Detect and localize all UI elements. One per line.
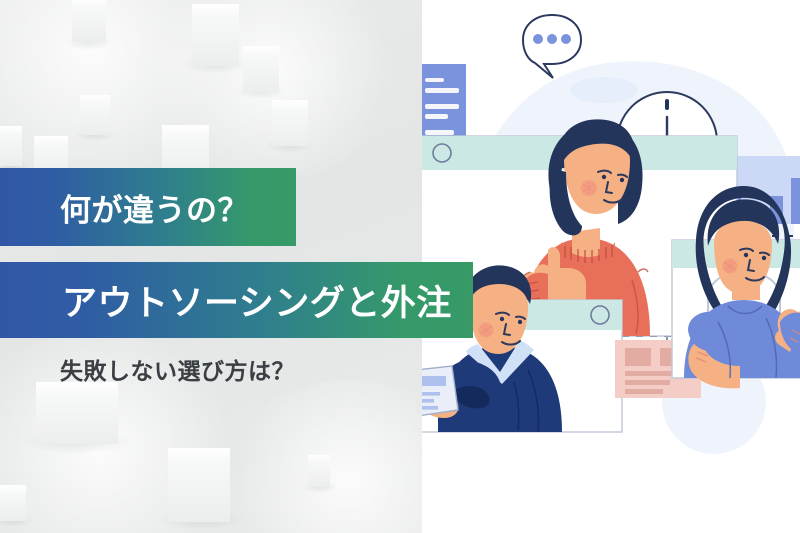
decorative-cube (168, 448, 230, 522)
headline-band-secondary: アウトソーシングと外注 (0, 262, 473, 338)
illustration-panel (422, 0, 800, 533)
decorative-cube (192, 4, 239, 66)
decorative-cube (80, 95, 110, 135)
subtitle-text: 失敗しない選び方は？ (60, 352, 295, 386)
headline-secondary-text: アウトソーシングと外注 (62, 275, 452, 326)
background-blob (570, 77, 638, 103)
held-document (422, 366, 458, 418)
decorative-cube (36, 382, 118, 444)
headline-band-primary: 何が違うの？ (0, 168, 296, 246)
remote-team-illustration (422, 0, 800, 533)
decorative-cube (72, 0, 106, 42)
decorative-cube (0, 126, 22, 166)
headline-primary-text: 何が違うの？ (60, 185, 249, 230)
hero-banner: 何が違うの？ アウトソーシングと外注 失敗しない選び方は？ (0, 0, 800, 533)
decorative-cube (243, 46, 279, 92)
decorative-cube (0, 485, 26, 521)
decorative-cube (272, 100, 308, 146)
decorative-cube (308, 455, 330, 487)
